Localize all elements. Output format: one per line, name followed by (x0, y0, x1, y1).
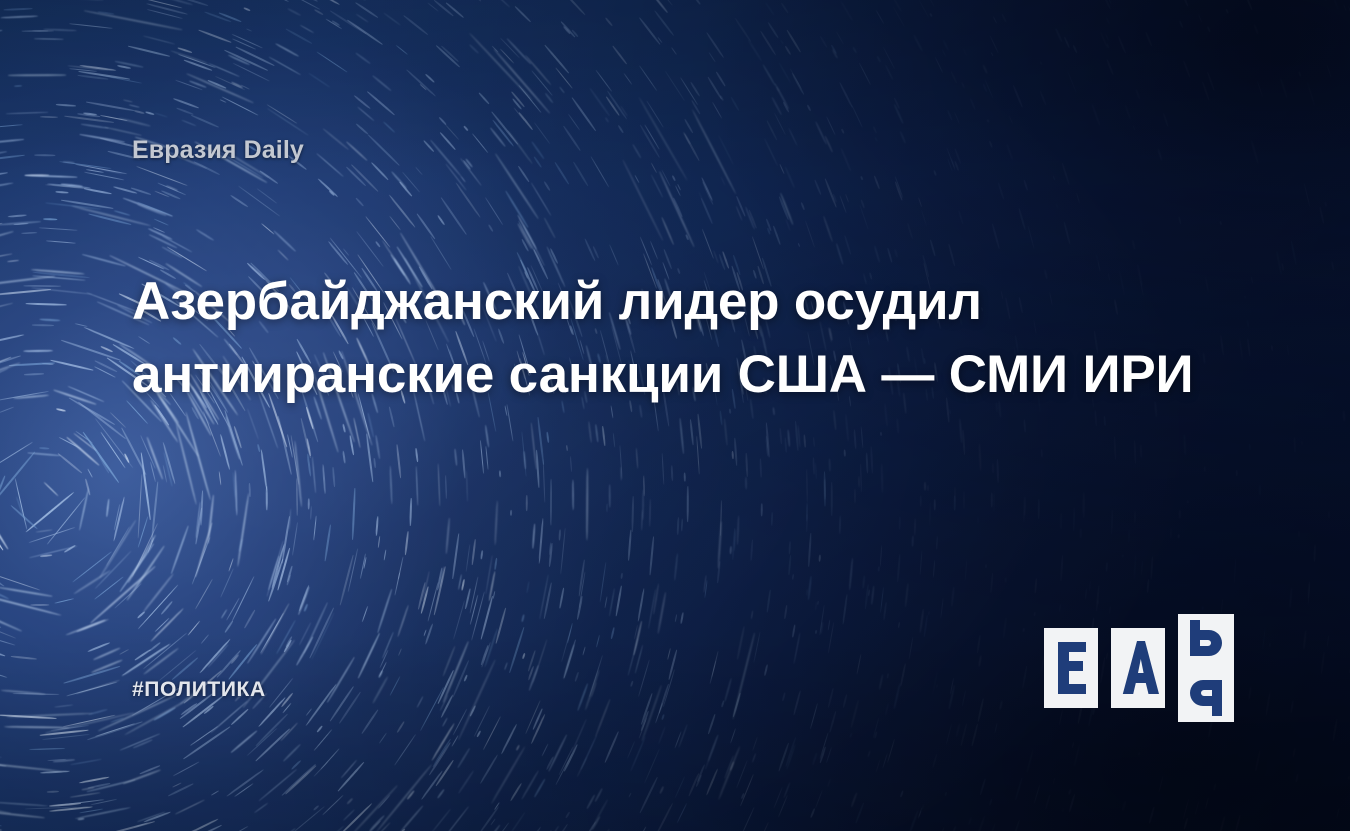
card-content: Евразия Daily Азербайджанский лидер осуд… (0, 0, 1350, 831)
page-title: Азербайджанский лидер осудил антиирански… (132, 266, 1242, 411)
eadaily-logo (1044, 628, 1234, 708)
logo-tile-d-upper (1178, 614, 1234, 667)
logo-tile-a (1111, 628, 1165, 708)
category-tag: #ПОЛИТИКА (132, 678, 266, 702)
news-share-card: Евразия Daily Азербайджанский лидер осуд… (0, 0, 1350, 831)
logo-tile-d-lower (1178, 669, 1234, 722)
logo-tile-e (1044, 628, 1098, 708)
brand-name: Евразия Daily (132, 136, 304, 165)
